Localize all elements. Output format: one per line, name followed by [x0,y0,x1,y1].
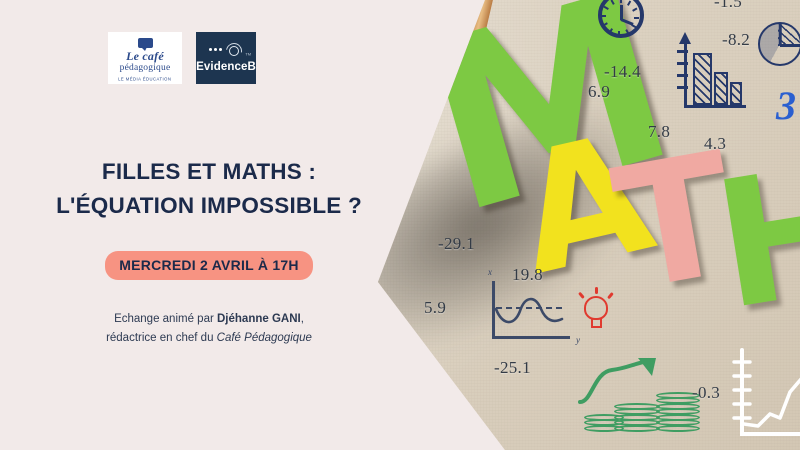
clock-ticks [604,0,638,32]
speaker-name: Djéhanne GANI [217,313,301,325]
paper-number: 7.8 [648,122,670,142]
credit-prefix: Echange animé par [114,313,217,325]
le-cafe-pedagogique-logo[interactable]: Le café pédagogique LE MÉDIA ÉDUCATION [108,32,182,84]
lightbulb-icon [578,288,614,334]
logo-cafe-tagline: LE MÉDIA ÉDUCATION [118,77,171,82]
paper-number: -25.1 [494,358,531,378]
bar-1 [693,53,712,105]
function-graph-icon: x y [486,277,570,343]
coin-stack-2 [614,403,660,431]
publication-name: Café Pédagogique [217,332,312,344]
paper-number: 4.3 [704,134,726,154]
paper-number: -14.4 [604,62,641,82]
logo-row: Le café pédagogique LE MÉDIA ÉDUCATION E… [108,32,256,84]
speaker-credit-line1: Echange animé par Djéhanne GANI, [0,310,418,329]
logo-cafe-line1: Le café [126,50,164,63]
credit-comma: , [301,313,304,325]
date-badge-container: MERCREDI 2 AVRIL À 17H [0,251,418,280]
line-chart-icon [728,348,800,448]
credit-role-prefix: rédactrice en chef du [106,332,217,344]
paper-number: 6.9 [588,82,610,102]
left-content-panel: Le café pédagogique LE MÉDIA ÉDUCATION E… [0,0,460,450]
graph-curve [492,285,568,335]
evidenceb-logo[interactable]: EvidenceB TM [196,32,256,84]
graph-axis-label-x: x [488,267,492,277]
lightbulb-glass [584,296,608,320]
bar-chart-x-axis [684,105,746,108]
lightbulb-base [591,319,602,328]
bar-chart-arrow [679,32,691,44]
paper-number: -8.2 [722,30,750,50]
graph-axis-label-y: y [576,335,580,345]
event-date-badge: MERCREDI 2 AVRIL À 17H [105,251,313,280]
blue-numeral-3: 3 [776,82,796,129]
bar-3 [730,82,742,105]
page-title: FILLES ET MATHS : L'ÉQUATION IMPOSSIBLE … [0,155,418,223]
paper-number: 19.8 [512,265,543,285]
pie-chart-icon [758,22,800,66]
paper-number: -1.5 [714,0,742,12]
speech-bubble-icon [138,38,153,48]
page-title-line1: FILLES ET MATHS : [0,155,418,189]
speaker-credit-line2: rédactrice en chef du Café Pédagogique [0,329,418,348]
speaker-credit: Echange animé par Djéhanne GANI, rédactr… [0,310,418,347]
graph-x-axis [492,336,570,339]
bar-2 [714,72,728,105]
evidenceb-wordmark: EvidenceB [196,61,256,73]
paper-number: -0.3 [692,383,720,403]
logo-cafe-line2: pédagogique [120,63,171,73]
evidenceb-trademark: TM [245,51,251,56]
page-title-line2: L'ÉQUATION IMPOSSIBLE ? [0,189,418,223]
target-dots-icon [209,43,243,60]
coin-stacks-growth-icon [584,358,704,430]
